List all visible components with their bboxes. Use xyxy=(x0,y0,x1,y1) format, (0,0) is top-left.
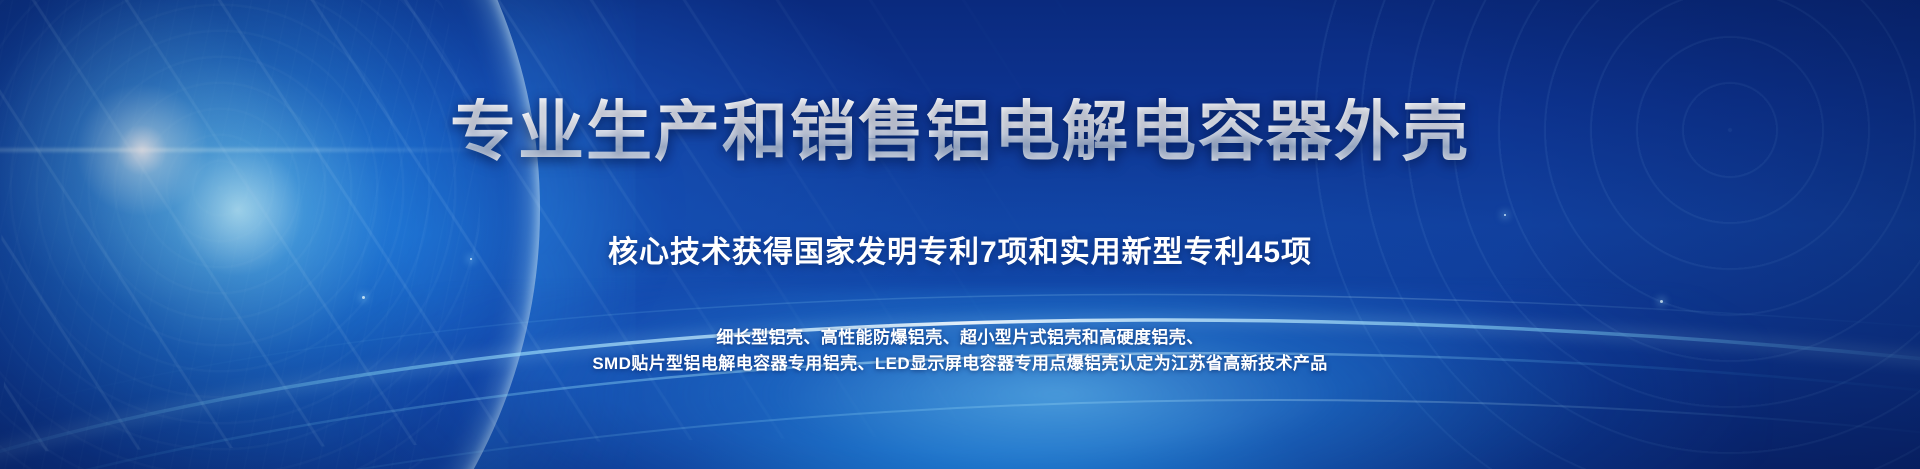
banner-subheadline: 核心技术获得国家发明专利7项和实用新型专利45项 xyxy=(608,238,1312,268)
hero-banner: 专业生产和销售铝电解电容器外壳 核心技术获得国家发明专利7项和实用新型专利45项… xyxy=(0,0,1920,469)
banner-content: 专业生产和销售铝电解电容器外壳 核心技术获得国家发明专利7项和实用新型专利45项… xyxy=(0,0,1920,469)
banner-detail-line-1: 细长型铝壳、高性能防爆铝壳、超小型片式铝壳和高硬度铝壳、 xyxy=(592,325,1327,351)
banner-detail-text: 细长型铝壳、高性能防爆铝壳、超小型片式铝壳和高硬度铝壳、 SMD贴片型铝电解电容… xyxy=(592,325,1327,376)
banner-detail-line-2: SMD贴片型铝电解电容器专用铝壳、LED显示屏电容器专用点爆铝壳认定为江苏省高新… xyxy=(592,351,1327,377)
banner-headline: 专业生产和销售铝电解电容器外壳 xyxy=(450,98,1470,164)
